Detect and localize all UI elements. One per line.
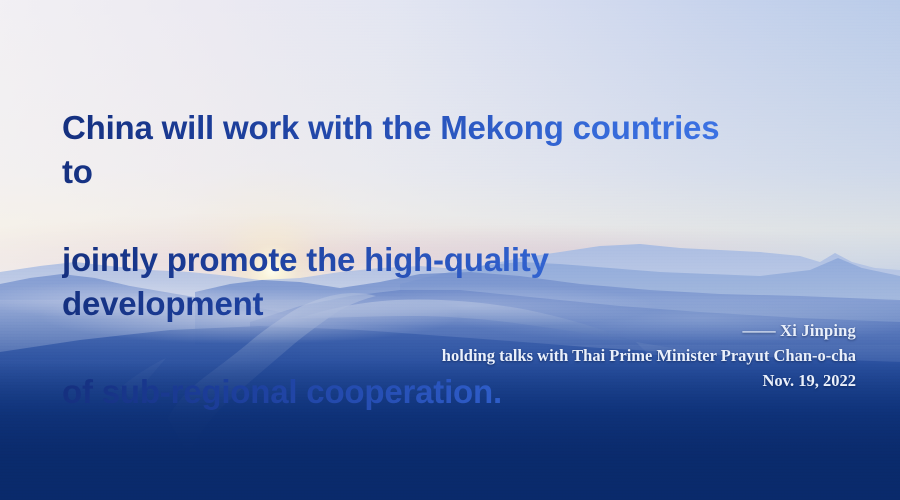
attribution-speaker: —— Xi Jinping [336,318,856,343]
attribution-occasion: holding talks with Thai Prime Minister P… [336,343,856,368]
quote-banner: China will work with the Mekong countrie… [0,0,900,500]
quote-headline: China will work with the Mekong countrie… [62,62,742,458]
quote-line-2: jointly promote the high-quality develop… [62,238,742,326]
quote-line-1: China will work with the Mekong countrie… [62,106,742,194]
attribution-date: Nov. 19, 2022 [336,368,856,393]
quote-attribution: —— Xi Jinping holding talks with Thai Pr… [336,318,856,393]
